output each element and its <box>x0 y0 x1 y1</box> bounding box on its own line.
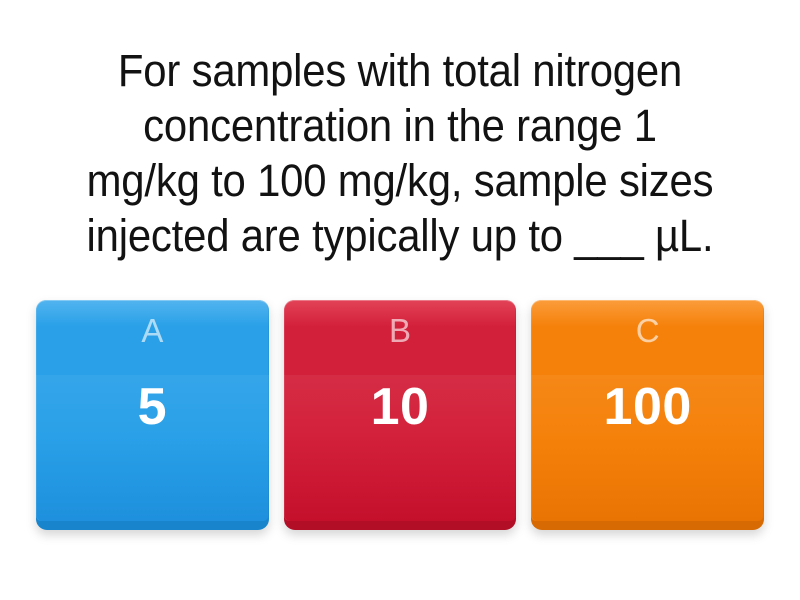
answer-card-a-content: A 5 <box>36 300 269 530</box>
answer-card-c-letter: C <box>636 314 660 347</box>
answer-card-a-letter: A <box>141 314 163 347</box>
answer-card-b-content: B 10 <box>284 300 517 530</box>
quiz-question-screen: For samples with total nitrogen concentr… <box>0 0 800 600</box>
answer-card-b-letter: B <box>389 314 411 347</box>
question-area: For samples with total nitrogen concentr… <box>0 44 800 264</box>
answer-card-b-value: 10 <box>371 381 430 433</box>
answer-card-c-content: C 100 <box>531 300 764 530</box>
answer-card-a[interactable]: A 5 <box>36 300 269 530</box>
answer-options-row: A 5 B 10 C 100 <box>0 300 800 548</box>
answer-card-b[interactable]: B 10 <box>284 300 517 530</box>
question-text: For samples with total nitrogen concentr… <box>45 44 756 264</box>
answer-card-a-value: 5 <box>138 381 167 433</box>
answer-card-c[interactable]: C 100 <box>531 300 764 530</box>
answer-card-c-value: 100 <box>604 381 692 433</box>
